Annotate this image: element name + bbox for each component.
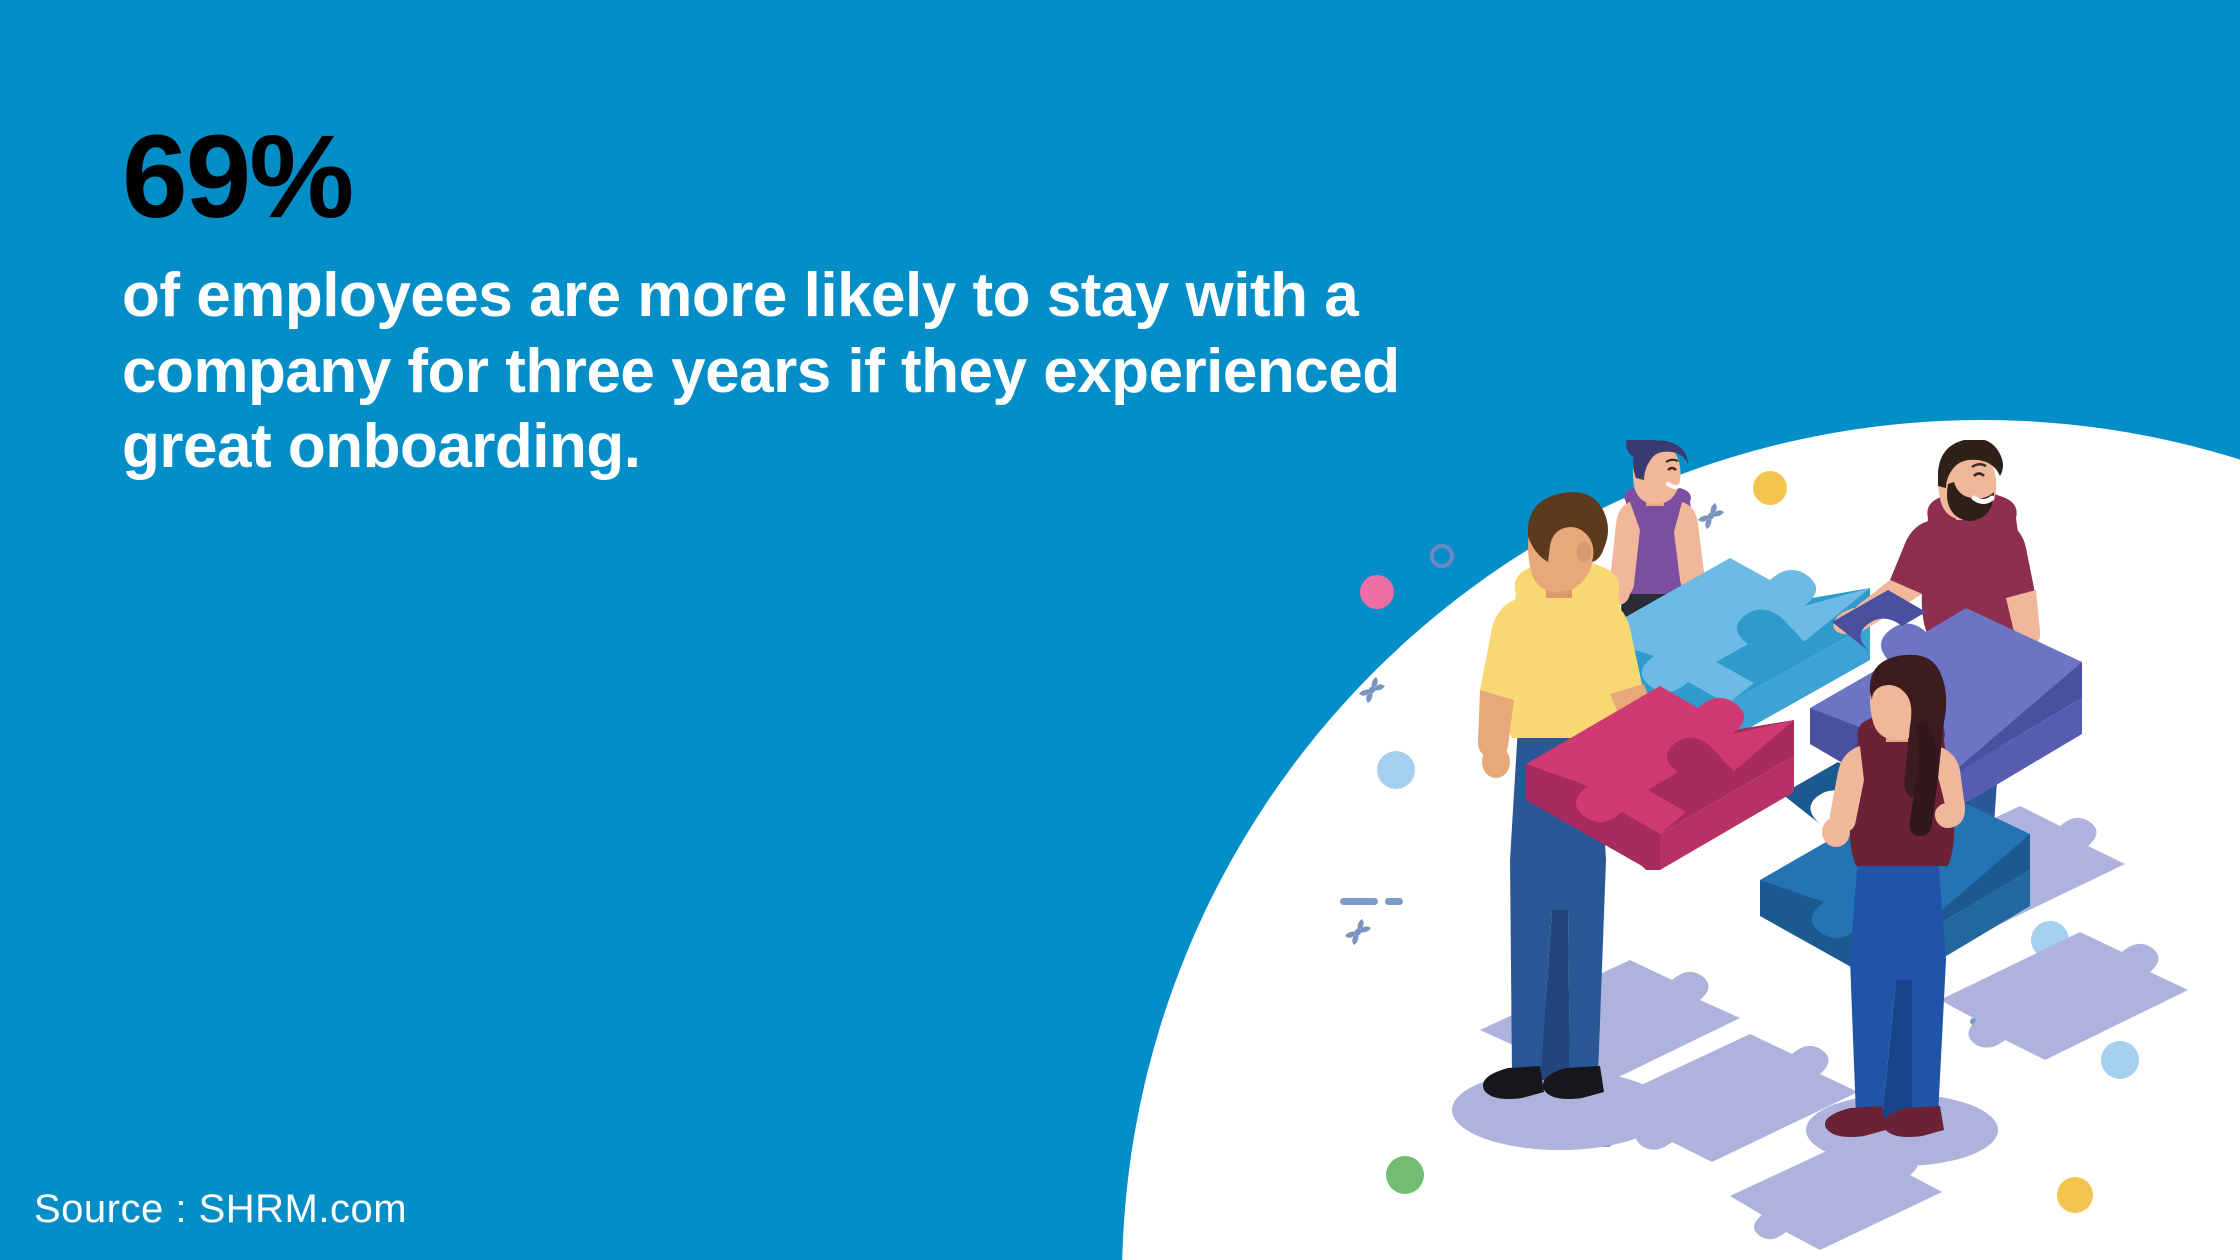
text-block: 69% of employees are more likely to stay… xyxy=(122,118,1742,485)
yellow-man-ear xyxy=(1577,542,1591,562)
source-label: Source : SHRM.com xyxy=(34,1187,407,1232)
dot-lightblue-far-icon xyxy=(2101,1041,2139,1079)
headline-line-2: company for three years if they experien… xyxy=(122,334,1742,410)
yellow-man-shoe-left xyxy=(1483,1066,1544,1099)
cross-marker-icon xyxy=(1698,503,1724,529)
cross-marker-4-icon xyxy=(1345,919,1371,945)
headline: of employees are more likely to stay wit… xyxy=(122,258,1742,485)
headline-line-3: great onboarding. xyxy=(122,409,1742,485)
dot-lightblue-left-icon xyxy=(1377,751,1415,789)
yellow-man-hand-left xyxy=(1482,746,1510,778)
dot-green-low-icon xyxy=(1386,1156,1424,1194)
slide-canvas: 69% of employees are more likely to stay… xyxy=(0,0,2240,1260)
cross-marker-2-icon xyxy=(1359,677,1385,703)
headline-line-1: of employees are more likely to stay wit… xyxy=(122,258,1742,334)
team-puzzle-illustration xyxy=(1330,440,2240,1260)
stat-number: 69% xyxy=(122,118,1742,236)
woman-red-hand-left xyxy=(1822,817,1850,847)
dot-yellow-low-icon xyxy=(2057,1177,2093,1213)
ground-piece-c xyxy=(1940,932,2188,1060)
dot-pink-icon xyxy=(1360,575,1394,609)
ring-blue-icon xyxy=(1432,546,1452,566)
dot-yellow-icon xyxy=(1753,471,1787,505)
dash-marker-icon xyxy=(1340,898,1403,905)
